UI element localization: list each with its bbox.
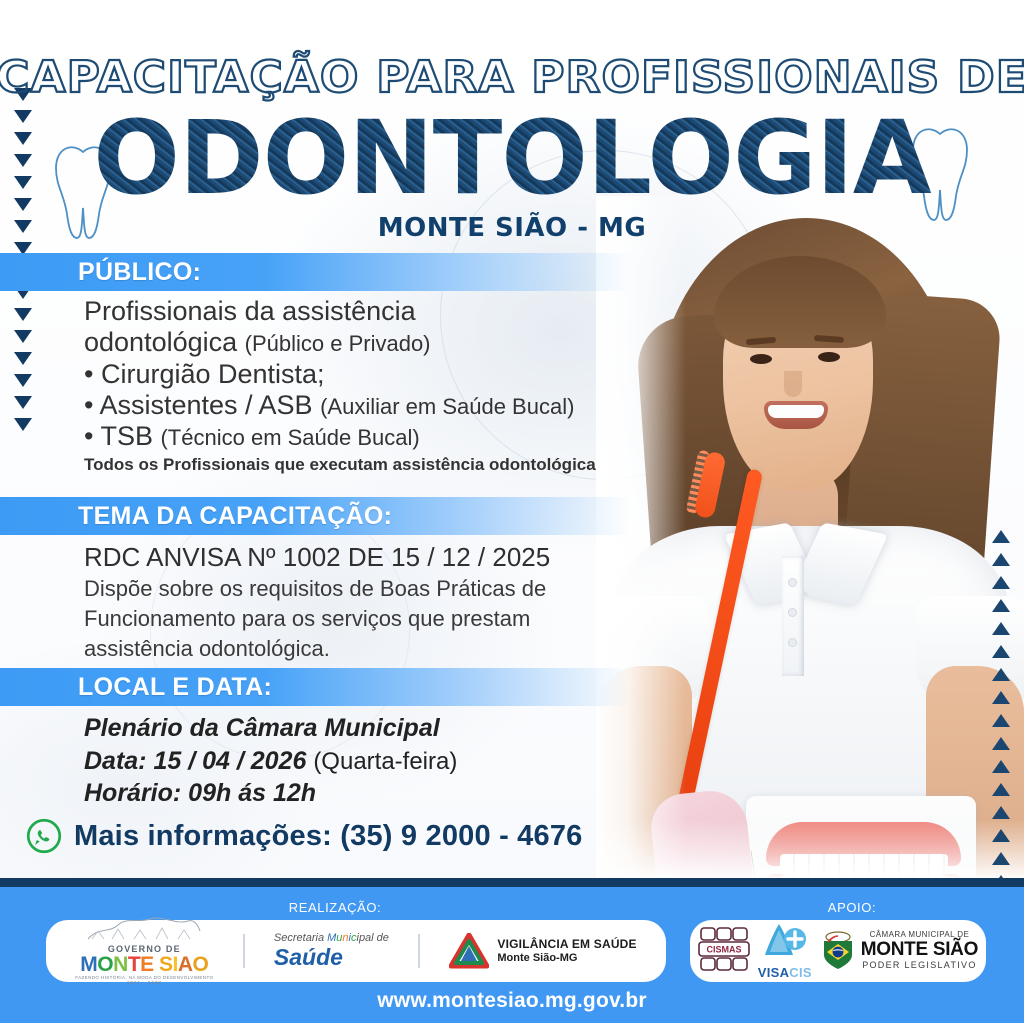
footer-website-url[interactable]: www.montesiao.mg.gov.br bbox=[0, 989, 1024, 1013]
publico-line-2-paren: (Público e Privado) bbox=[245, 331, 431, 356]
triangle-up-icon bbox=[992, 599, 1010, 612]
visacis-mark-icon bbox=[762, 922, 808, 960]
logo-vigilancia-line-1: VIGILÂNCIA EM SAÚDE bbox=[497, 938, 636, 951]
triangle-up-icon bbox=[992, 852, 1010, 865]
triangle-down-icon bbox=[14, 308, 32, 321]
tema-desc-2: Funcionamento para os serviços que prest… bbox=[84, 605, 624, 633]
contact-phone-text[interactable]: Mais informações: (35) 9 2000 - 4676 bbox=[74, 820, 583, 853]
right-arrow-decor-column bbox=[992, 530, 1010, 888]
cismas-grid-icon: CISMAS bbox=[698, 925, 750, 973]
section-label-tema: TEMA DA CAPACITAÇÃO: bbox=[0, 502, 392, 531]
logo-saude-line-2: Saúde bbox=[274, 945, 389, 969]
tema-title: RDC ANVISA Nº 1002 DE 15 / 12 / 2025 bbox=[84, 542, 624, 573]
logo-governo-monte-siao: GOVERNO DE MONTE SIAO FAZENDO HISTÓRIA, … bbox=[75, 917, 213, 985]
publico-bullet-3-main: • TSB bbox=[84, 421, 160, 451]
triangle-up-icon bbox=[992, 783, 1010, 796]
visacis-label: VISACIS bbox=[758, 965, 812, 980]
logo-monte-siao-name: MONTE SIAO bbox=[75, 954, 213, 975]
camara-line-2: MONTE SIÃO bbox=[861, 940, 978, 961]
footer-divider bbox=[418, 934, 420, 968]
publico-bullet-1: • Cirurgião Dentista; bbox=[84, 359, 644, 390]
local-time: Horário: 09h ás 12h bbox=[84, 777, 624, 810]
triangle-up-icon bbox=[992, 530, 1010, 543]
triangle-down-icon bbox=[14, 418, 32, 431]
section-bar-publico: PÚBLICO: bbox=[0, 253, 630, 291]
section-body-tema: RDC ANVISA Nº 1002 DE 15 / 12 / 2025 Dis… bbox=[84, 542, 624, 662]
section-bar-local: LOCAL E DATA: bbox=[0, 668, 630, 706]
logo-vigilancia-saude: VIGILÂNCIA EM SAÚDE Monte Sião-MG bbox=[449, 933, 636, 969]
triangle-up-icon bbox=[992, 645, 1010, 658]
triangle-up-icon bbox=[992, 760, 1010, 773]
dentist-photo bbox=[596, 196, 1024, 880]
headline-line-1: CAPACITAÇÃO PARA PROFISSIONAIS DE bbox=[0, 52, 1024, 103]
publico-bullet-3-paren: (Técnico em Saúde Bucal) bbox=[160, 425, 419, 450]
logo-cismas: CISMAS bbox=[698, 925, 750, 978]
triangle-up-icon bbox=[992, 737, 1010, 750]
footer-top-stripe bbox=[0, 878, 1024, 887]
footer-apoio-label: APOIO: bbox=[680, 900, 1024, 915]
logo-visacis: VISACIS bbox=[758, 922, 812, 980]
footer-card-apoio: CISMAS VISACIS bbox=[690, 920, 986, 982]
section-bar-tema: TEMA DA CAPACITAÇÃO: bbox=[0, 497, 630, 535]
poster-footer: REALIZAÇÃO: APOIO: GOVERNO DE MONTE SIAO… bbox=[0, 878, 1024, 1023]
triangle-up-icon bbox=[992, 622, 1010, 635]
footer-card-realizacao: GOVERNO DE MONTE SIAO FAZENDO HISTÓRIA, … bbox=[46, 920, 666, 982]
camara-brasao-icon bbox=[820, 931, 856, 971]
tema-desc-1: Dispõe sobre os requisitos de Boas Práti… bbox=[84, 575, 624, 603]
triangle-up-icon bbox=[992, 576, 1010, 589]
logo-secretaria-saude: Secretaria Municipal de Saúde bbox=[274, 933, 389, 969]
cismas-label: CISMAS bbox=[706, 944, 741, 954]
triangle-up-icon bbox=[992, 668, 1010, 681]
triangle-up-icon bbox=[992, 806, 1010, 819]
triangle-up-icon bbox=[992, 714, 1010, 727]
triangle-up-icon bbox=[992, 553, 1010, 566]
publico-bullet-2: • Assistentes / ASB (Auxiliar em Saúde B… bbox=[84, 390, 644, 421]
publico-bullet-2-main: • Assistentes / ASB bbox=[84, 390, 320, 420]
publico-bullet-3: • TSB (Técnico em Saúde Bucal) bbox=[84, 421, 644, 452]
triangle-down-icon bbox=[14, 374, 32, 387]
local-date-value: Data: 15 / 04 / 2026 bbox=[84, 747, 313, 775]
publico-footnote: Todos os Profissionais que executam assi… bbox=[84, 455, 644, 475]
triangle-down-icon bbox=[14, 352, 32, 365]
contact-row[interactable]: Mais informações: (35) 9 2000 - 4676 bbox=[26, 818, 583, 854]
poster-canvas: CAPACITAÇÃO PARA PROFISSIONAIS DE ODONTO… bbox=[0, 0, 1024, 1023]
logo-saude-line-1: Secretaria Municipal de bbox=[274, 933, 389, 945]
local-place: Plenário da Câmara Municipal bbox=[84, 712, 624, 745]
publico-line-2: odontológica (Público e Privado) bbox=[84, 327, 644, 358]
camara-line-3: PODER LEGISLATIVO bbox=[861, 961, 978, 971]
section-body-local: Plenário da Câmara Municipal Data: 15 / … bbox=[84, 712, 624, 810]
section-body-publico: Profissionais da assistência odontológic… bbox=[84, 296, 644, 475]
triangle-up-icon bbox=[992, 829, 1010, 842]
triangle-up-icon bbox=[992, 691, 1010, 704]
section-label-local: LOCAL E DATA: bbox=[0, 673, 272, 702]
logo-years: 2021 - 2028 bbox=[75, 981, 213, 986]
logo-vigilancia-line-2: Monte Sião-MG bbox=[497, 952, 636, 964]
monte-siao-hills-icon bbox=[84, 917, 204, 941]
footer-realizacao-label: REALIZAÇÃO: bbox=[0, 900, 670, 915]
tema-desc-3: assistência odontológica. bbox=[84, 635, 624, 663]
publico-bullet-2-paren: (Auxiliar em Saúde Bucal) bbox=[320, 394, 574, 419]
whatsapp-icon[interactable] bbox=[26, 818, 62, 854]
vigilancia-triangle-icon bbox=[449, 933, 489, 969]
local-date-weekday: (Quarta-feira) bbox=[313, 748, 457, 775]
logo-camara-municipal: CÂMARA MUNICIPAL DE MONTE SIÃO PODER LEG… bbox=[820, 931, 978, 971]
footer-divider bbox=[243, 934, 245, 968]
headline-line-2: ODONTOLOGIA bbox=[0, 107, 1024, 211]
triangle-down-icon bbox=[14, 330, 32, 343]
publico-line-1: Profissionais da assistência bbox=[84, 296, 644, 327]
triangle-down-icon bbox=[14, 396, 32, 409]
poster-headline: CAPACITAÇÃO PARA PROFISSIONAIS DE ODONTO… bbox=[0, 52, 1024, 243]
local-date: Data: 15 / 04 / 2026 (Quarta-feira) bbox=[84, 745, 624, 778]
section-label-publico: PÚBLICO: bbox=[0, 258, 201, 287]
publico-line-2-main: odontológica bbox=[84, 327, 245, 357]
